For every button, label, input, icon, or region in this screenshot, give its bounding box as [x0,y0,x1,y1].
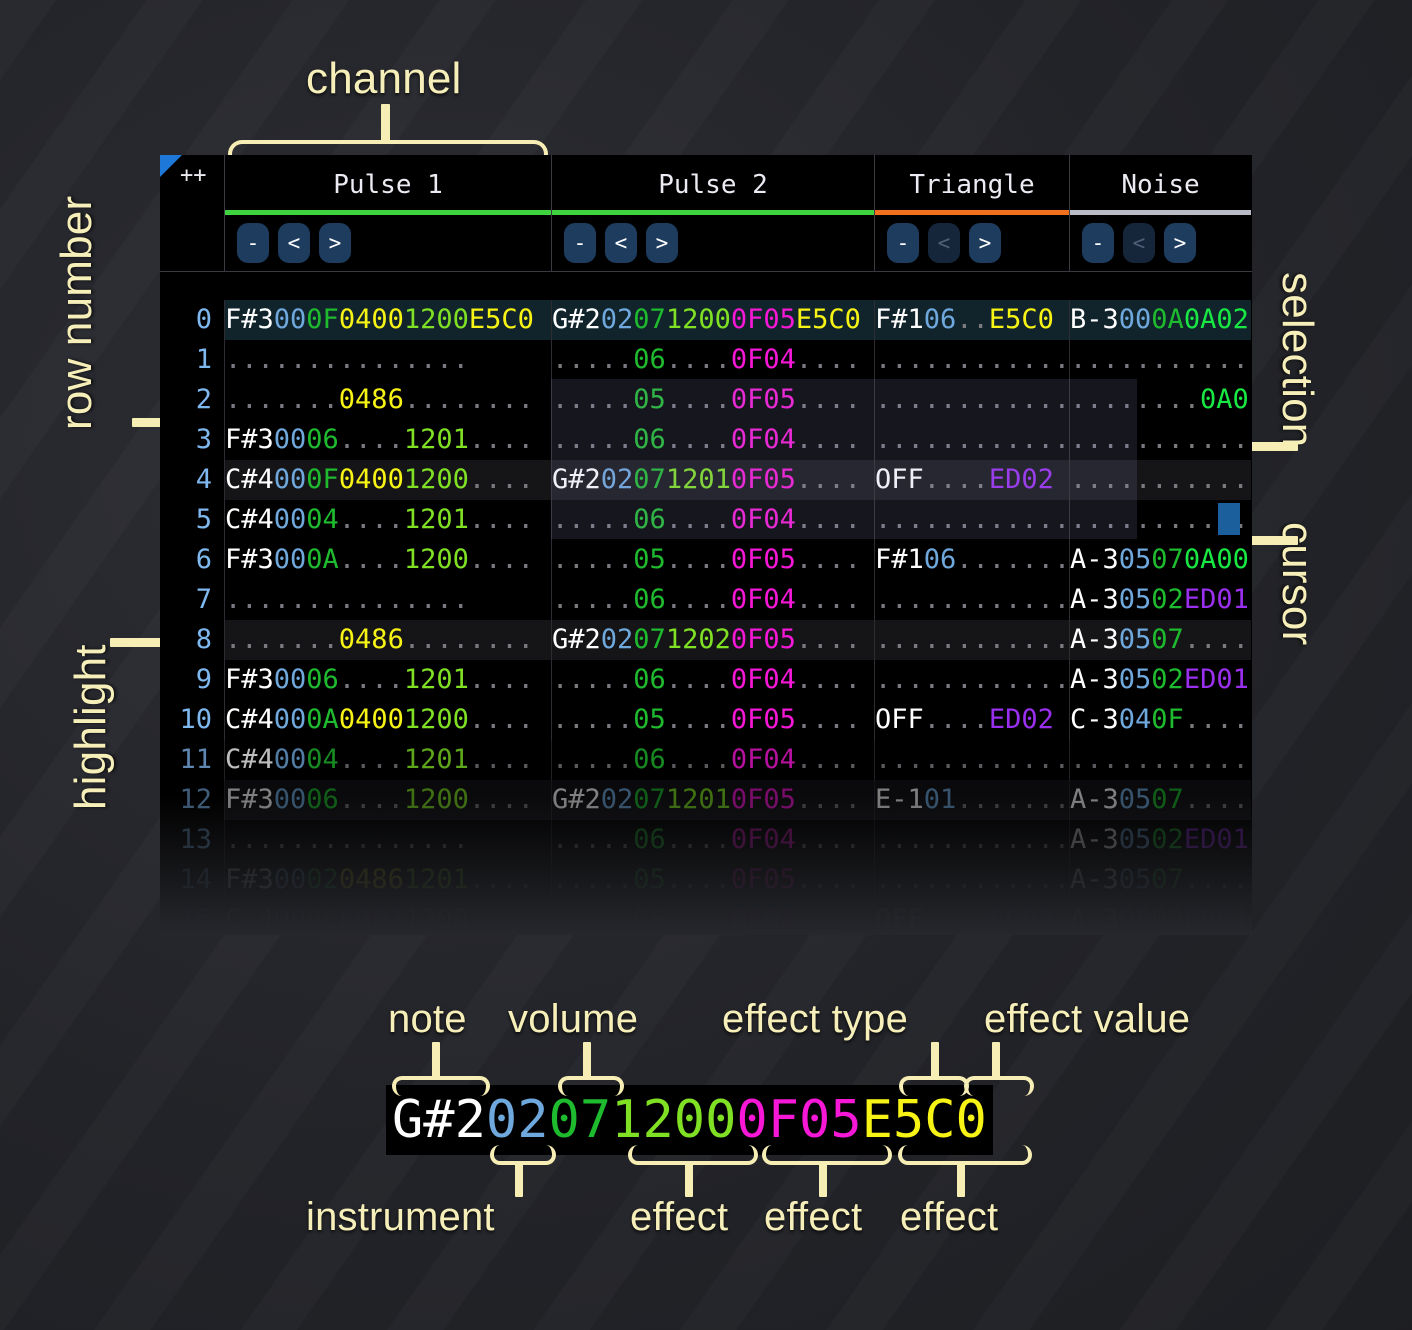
annotation-effect-a: effect [630,1195,728,1240]
pattern-token: 06 [633,744,666,775]
pattern-row[interactable]: 0F#3000F04001200E5C0G#2020712000F05E5C0F… [160,300,1252,340]
pattern-token: .... [924,904,989,935]
pattern-cell[interactable]: OFF....ED02 [874,460,1069,500]
pattern-token: .... [666,584,731,615]
pattern-cell[interactable]: .......0486........ [224,380,551,420]
pattern-token: 05 [633,704,666,735]
pattern-cell[interactable]: F#30006....1201.... [224,660,551,700]
annotation-effect-c: effect [900,1195,998,1240]
pattern-row[interactable]: 8.......0486........G#2020712020F05.....… [160,620,1252,660]
pattern-token: .... [666,824,731,855]
pattern-cell[interactable]: .............. [1069,420,1251,460]
pattern-token: ..... [552,424,633,455]
pattern-cell[interactable]: G#2020712000F05E5C0 [551,300,874,340]
pattern-cell[interactable]: A-30502ED01 [1069,820,1251,860]
pattern-token: 00 [371,704,404,735]
pattern-token: 1200 [404,544,469,575]
pattern-cell[interactable]: .....06....0F04.... [551,820,874,860]
pattern-token: 1201 [404,744,469,775]
annotation-effect-b: effect [764,1195,862,1240]
annotation-effect-b-bracket [762,1145,892,1165]
pattern-token: 0F05 [731,704,796,735]
pattern-token: 00 [274,904,307,935]
pattern-cell[interactable]: .....06....0F04.... [551,340,874,380]
pattern-token: .............. [875,424,1069,455]
pattern-token: 04 [339,464,372,495]
row-number: 3 [160,420,224,460]
pattern-token: 0F05 [731,784,796,815]
pattern-token: ........ [956,784,1069,815]
pattern-cell[interactable]: ............... [224,340,551,380]
row-number: 15 [160,900,224,935]
pattern-cell[interactable]: F#3000F04001200E5C0 [224,300,551,340]
pattern-token: 06 [633,424,666,455]
pattern-cell[interactable]: C#4000F04001200.... [224,460,551,500]
pattern-token: .... [469,504,534,535]
pattern-token: .... [796,624,861,655]
pattern-cell[interactable]: .............. [874,580,1069,620]
pattern-token: 0A01 [1200,384,1251,415]
pattern-token: .... [666,544,731,575]
pattern-token: .... [1184,784,1249,815]
annotation-effect-value-bracket [964,1076,1034,1096]
pattern-token: 04 [1119,704,1152,735]
pattern-token: .... [796,424,861,455]
annotation-highlight: highlight [66,644,116,810]
channel-header-pulse-1[interactable]: Pulse 1 [224,155,551,215]
annotation-channel: channel [306,54,462,104]
pattern-token: 1200 [404,704,469,735]
channel-header-row: ++ Pulse 1 Pulse 2 Triangle Noise [160,155,1252,215]
pattern-row[interactable]: 11C#40004....1201.........06....0F04....… [160,740,1252,780]
pattern-cell[interactable]: .............. [874,380,1069,420]
pattern-token: 1201 [404,424,469,455]
pattern-cell[interactable]: A-30507.... [1069,860,1251,900]
channel-header-pulse-2[interactable]: Pulse 2 [551,155,874,215]
next-instrument-button-triangle[interactable]: > [969,223,1001,263]
pattern-token: .... [796,664,861,695]
pattern-token: .............. [1070,464,1251,495]
pattern-token: 04 [339,704,372,735]
prev-instrument-button-noise[interactable]: < [1123,223,1155,263]
pattern-token: 0F04 [731,584,796,615]
pattern-token: .... [666,904,731,935]
pattern-token: 00 [371,464,404,495]
pattern-cell[interactable]: .............. [1069,740,1251,780]
pattern-token: 0F05 [731,624,796,655]
pattern-cell[interactable]: .............. [874,420,1069,460]
pattern-token: .... [796,824,861,855]
pattern-token: .... [924,704,989,735]
pattern-token: .............. [875,344,1069,375]
pattern-token: 05 [633,864,666,895]
pattern-cell[interactable]: ............... [224,580,551,620]
pattern-token: ............... [225,584,469,615]
pattern-token: .... [796,584,861,615]
pattern-row[interactable]: 2.......0486.............05....0F05.....… [160,380,1252,420]
pattern-token: 05 [1119,624,1152,655]
row-number: 5 [160,500,224,540]
pattern-token: F#3 [225,544,274,575]
pattern-cell[interactable]: .....05....0F05.... [551,700,874,740]
annotation-volume-bracket [558,1076,624,1096]
pattern-token: ED02 [989,904,1054,935]
pattern-token: 0C [306,904,339,935]
pattern-cell[interactable]: F#3000204861201.... [224,860,551,900]
pattern-row[interactable]: 7....................06....0F04.........… [160,580,1252,620]
annotation-effect-c-leader [957,1161,965,1197]
pattern-cell[interactable]: .............. [874,660,1069,700]
pattern-cell[interactable]: .....06....0F04.... [551,900,874,935]
pattern-token: 02 [601,784,634,815]
legend-effect-1: 1200 [611,1090,736,1150]
pattern-token: 06 [633,504,666,535]
pattern-cell[interactable]: A-30507.... [1069,780,1251,820]
pattern-token: 1201 [666,464,731,495]
pattern-cell[interactable]: F#3000A....1200.... [224,540,551,580]
pattern-cell[interactable]: A-30502ED01 [1069,580,1251,620]
annotation-volume-leader [583,1042,591,1078]
pattern-token: .............. [875,504,1069,535]
channel-name-label: Pulse 2 [658,170,768,200]
pattern-cell[interactable]: F#106..E5C0 [874,300,1069,340]
pattern-token: .... [469,544,534,575]
pattern-token: 1201 [404,664,469,695]
pattern-token: 0F [306,464,339,495]
pattern-token: 05 [1119,584,1152,615]
pattern-token: .... [796,504,861,535]
pattern-token: C#4 [225,744,274,775]
pattern-token: OFF [875,904,924,935]
pattern-token: ..... [552,584,633,615]
pattern-token: 00 [274,464,307,495]
next-instrument-button-pulse-2[interactable]: > [646,223,678,263]
annotation-note-bracket [392,1076,490,1096]
legend-effect-3: E5C0 [862,1090,987,1150]
pattern-cell[interactable]: .....06....0F04.... [551,420,874,460]
pattern-token: 04 [306,744,339,775]
pattern-token: 0F [1151,704,1184,735]
pattern-token: ..... [552,864,633,895]
pattern-token: 05 [1119,864,1152,895]
annotation-instrument: instrument [306,1195,495,1240]
pattern-cell[interactable]: G#2020712010F05.... [551,460,874,500]
pattern-token: 1200 [404,304,469,335]
channel-controls-noise: - < > [1069,215,1251,271]
pattern-token: 07 [633,304,666,335]
pattern-token: 05 [1119,664,1152,695]
pattern-token: ..... [552,824,633,855]
pattern-token: .... [796,544,861,575]
pattern-cell[interactable]: C-4000CED031200.... [224,900,551,935]
pattern-token: F#3 [225,424,274,455]
pattern-token: ..... [552,744,633,775]
channel-header-triangle[interactable]: Triangle [874,155,1069,215]
pattern-token: E5C0 [469,304,534,335]
pattern-token: A-3 [1070,824,1119,855]
pattern-token: 06 [633,904,666,935]
annotation-effect-type: effect type [722,997,908,1042]
annotation-effect-b-leader [819,1161,827,1197]
pattern-token: 0F [306,304,339,335]
pattern-token: .............. [875,744,1069,775]
pattern-token: F#1 [875,304,924,335]
pattern-token: .............. [875,824,1069,855]
pattern-token: 0F04 [731,344,796,375]
pattern-token: .............. [875,624,1069,655]
pattern-token: .... [469,704,534,735]
row-number: 1 [160,340,224,380]
pattern-row[interactable]: 4C#4000F04001200....G#2020712010F05....O… [160,460,1252,500]
pattern-grid[interactable]: 0F#3000F04001200E5C0G#2020712000F05E5C0F… [160,272,1252,935]
prev-instrument-button-pulse-1[interactable]: < [278,223,310,263]
pattern-cell[interactable]: .............. [874,860,1069,900]
pattern-cell[interactable]: .....06....0F04.... [551,580,874,620]
mute-button-pulse-1[interactable]: - [237,223,269,263]
pattern-cell[interactable]: C#40004....1201.... [224,740,551,780]
pattern-token: .... [666,424,731,455]
pattern-token: A-3 [1070,584,1119,615]
pattern-row[interactable]: 10C#4000A04001200.........05....0F05....… [160,700,1252,740]
annotation-effect-type-leader [931,1042,939,1078]
pattern-token: 1200 [404,784,469,815]
pattern-token: 1202 [666,624,731,655]
pattern-token: 0F05 [731,384,796,415]
pattern-token: 1201 [404,864,469,895]
pattern-token: 0F05 [731,544,796,575]
pattern-token: ..... [552,544,633,575]
pattern-cell[interactable]: B-3000A0A02 [1069,300,1251,340]
pattern-cell[interactable]: G#2020712020F05.... [551,620,874,660]
pattern-token: G#2 [552,304,601,335]
pattern-row[interactable]: 14F#3000204861201.........05....0F05....… [160,860,1252,900]
annotation-note-leader [432,1042,440,1078]
pattern-token: 0F04 [731,744,796,775]
pattern-token: 0F05 [731,864,796,895]
channel-controls-pulse-1: - < > [224,215,551,271]
pattern-cell[interactable]: .....06....0F04.... [551,500,874,540]
annotation-note: note [388,997,467,1042]
legend-note: G#2 [392,1090,486,1150]
pattern-token: ........ [404,384,534,415]
plus-plus-label: ++ [180,163,207,188]
pattern-token: 07 [1151,544,1184,575]
pattern-token: A-3 [1070,904,1119,935]
pattern-token: .... [339,544,404,575]
pattern-token: ED01 [1184,904,1249,935]
pattern-token: 04 [339,304,372,335]
pattern-token: .... [796,344,861,375]
pattern-token: .... [469,744,534,775]
pattern-token: 0F04 [731,664,796,695]
next-instrument-button-pulse-1[interactable]: > [319,223,351,263]
pattern-token: 07 [1151,784,1184,815]
pattern-row[interactable]: 6F#3000A....1200.........05....0F05....F… [160,540,1252,580]
pattern-cell[interactable]: .....05....0F05.... [551,860,874,900]
pattern-cell[interactable]: G#2020712010F05.... [551,780,874,820]
pattern-token: 0F04 [731,904,796,935]
pattern-token: .... [1184,704,1249,735]
pattern-token: 0F04 [731,504,796,535]
pattern-token: F#3 [225,784,274,815]
mute-button-pulse-2[interactable]: - [564,223,596,263]
pattern-token: .... [666,384,731,415]
pattern-token: E5C0 [989,304,1054,335]
annotation-effect-a-leader [685,1161,693,1197]
pattern-cell[interactable]: C-3040F.... [1069,700,1251,740]
pattern-token: 0A [306,544,339,575]
pattern-token: 00 [274,304,307,335]
pattern-token: 0F04 [731,824,796,855]
pattern-token: G#2 [552,464,601,495]
pattern-token: 06 [306,664,339,695]
pattern-cell[interactable]: OFF....ED02 [874,900,1069,935]
pattern-cell[interactable]: .....06....0F04.... [551,660,874,700]
pattern-token: .............. [875,384,1069,415]
pattern-token: .... [796,464,861,495]
pattern-token: .... [1184,864,1249,895]
pattern-token: ..... [552,904,633,935]
pattern-cell[interactable]: A-30507.... [1069,620,1251,660]
pattern-row[interactable]: 9F#30006....1201.........06....0F04.....… [160,660,1252,700]
pattern-token: ....... [225,384,339,415]
pattern-editor[interactable]: ++ Pulse 1 Pulse 2 Triangle Noise - < > … [160,155,1252,935]
pattern-token: A-3 [1070,624,1119,655]
pattern-token: 00 [274,744,307,775]
pattern-cell[interactable]: .............. [874,820,1069,860]
annotation-selection: selection [1272,272,1322,447]
pattern-token: 06 [306,424,339,455]
pattern-cell[interactable]: F#30006....1201.... [224,420,551,460]
pattern-cell[interactable]: .............. [874,620,1069,660]
prev-instrument-button-triangle[interactable]: < [928,223,960,263]
row-number: 11 [160,740,224,780]
row-number: 9 [160,660,224,700]
pattern-cell[interactable]: .............. [1069,500,1251,540]
pattern-token: F#3 [225,304,274,335]
row-number-header: ++ [160,155,224,215]
pattern-cell[interactable]: ........0A01 [1069,380,1251,420]
pattern-token: .... [469,664,534,695]
prev-instrument-button-pulse-2[interactable]: < [605,223,637,263]
row-number: 12 [160,780,224,820]
pattern-token: 00 [274,544,307,575]
annotation-effect-c-bracket [898,1145,1032,1165]
pattern-cell[interactable]: OFF....ED02 [874,700,1069,740]
pattern-token: ED01 [1184,824,1249,855]
pattern-cell[interactable]: .....05....0F05.... [551,540,874,580]
pattern-cell[interactable]: .....06....0F04.... [551,740,874,780]
pattern-token: 02 [1151,664,1184,695]
pattern-token: ED01 [1184,584,1249,615]
pattern-token: .............. [1070,344,1251,375]
pattern-token: ....... [225,624,339,655]
pattern-token: .............. [1070,744,1251,775]
next-instrument-button-noise[interactable]: > [1164,223,1196,263]
pattern-token: A-3 [1070,864,1119,895]
pattern-cell[interactable]: F#30006....1200.... [224,780,551,820]
pattern-token: 1201 [666,784,731,815]
channel-header-noise[interactable]: Noise [1069,155,1251,215]
pattern-token: ........ [956,544,1069,575]
pattern-cell[interactable]: F#106........ [874,540,1069,580]
pattern-token: .... [469,464,534,495]
pattern-row[interactable]: 3F#30006....1201.........06....0F04.....… [160,420,1252,460]
pattern-token: .... [469,904,534,935]
pattern-token: 05 [1119,824,1152,855]
pattern-token: ..... [552,664,633,695]
pattern-cell[interactable]: .....05....0F05.... [551,380,874,420]
pattern-token: ..... [552,384,633,415]
pattern-cell[interactable]: E-101........ [874,780,1069,820]
row-number: 2 [160,380,224,420]
pattern-row[interactable]: 13....................06....0F04........… [160,820,1252,860]
pattern-token: 04 [306,504,339,535]
pattern-token: 02 [601,624,634,655]
pattern-token: .............. [1070,424,1251,455]
pattern-cell[interactable]: C#4000A04001200.... [224,700,551,740]
pattern-cell[interactable]: .............. [874,500,1069,540]
pattern-row[interactable]: 15C-4000CED031200.........06....0F04....… [160,900,1252,935]
pattern-token: 0A [306,704,339,735]
pattern-token: G#2 [552,784,601,815]
pattern-cell[interactable]: .............. [874,340,1069,380]
pattern-token: 00 [274,664,307,695]
pattern-cell[interactable]: A-30502ED01 [1069,660,1251,700]
pattern-cell[interactable]: A-30502ED01 [1069,900,1251,935]
corner-triangle-icon [160,155,182,177]
pattern-token: .............. [875,664,1069,695]
mute-button-triangle[interactable]: - [887,223,919,263]
pattern-token: 06 [633,664,666,695]
pattern-cell[interactable]: .............. [1069,340,1251,380]
pattern-row[interactable]: 5C#40004....1201.........06....0F04.....… [160,500,1252,540]
pattern-token: F#1 [875,544,924,575]
pattern-token: 07 [633,464,666,495]
pattern-token: 06 [633,344,666,375]
pattern-cell[interactable]: C#40004....1201.... [224,500,551,540]
row-number: 14 [160,860,224,900]
pattern-token: 02 [1151,824,1184,855]
pattern-token: 0486 [339,624,404,655]
pattern-token: 05 [1119,784,1152,815]
pattern-row[interactable]: 12F#30006....1200....G#2020712010F05....… [160,780,1252,820]
pattern-token: 07 [1151,864,1184,895]
pattern-token: 01 [924,784,957,815]
pattern-cell[interactable]: .......0486........ [224,620,551,660]
pattern-token: 02 [306,864,339,895]
pattern-token: .... [796,784,861,815]
pattern-token: .... [796,864,861,895]
pattern-cell[interactable]: ............... [224,820,551,860]
pattern-cell[interactable]: .............. [1069,460,1251,500]
pattern-token: C#4 [225,464,274,495]
pattern-token: .... [339,424,404,455]
annotation-effect-a-bracket [628,1145,758,1165]
pattern-token: E5C0 [796,304,861,335]
pattern-cell[interactable]: .............. [874,740,1069,780]
pattern-cell[interactable]: A-305070A00 [1069,540,1251,580]
pattern-token: ..... [552,504,633,535]
annotation-effect-type-bracket [899,1076,969,1096]
pattern-token: A-3 [1070,784,1119,815]
pattern-token: 00 [371,304,404,335]
pattern-row[interactable]: 1....................06....0F04.........… [160,340,1252,380]
mute-button-noise[interactable]: - [1082,223,1114,263]
pattern-token: 05 [1119,544,1152,575]
pattern-token: 02 [1151,904,1184,935]
pattern-token: C-4 [225,904,274,935]
